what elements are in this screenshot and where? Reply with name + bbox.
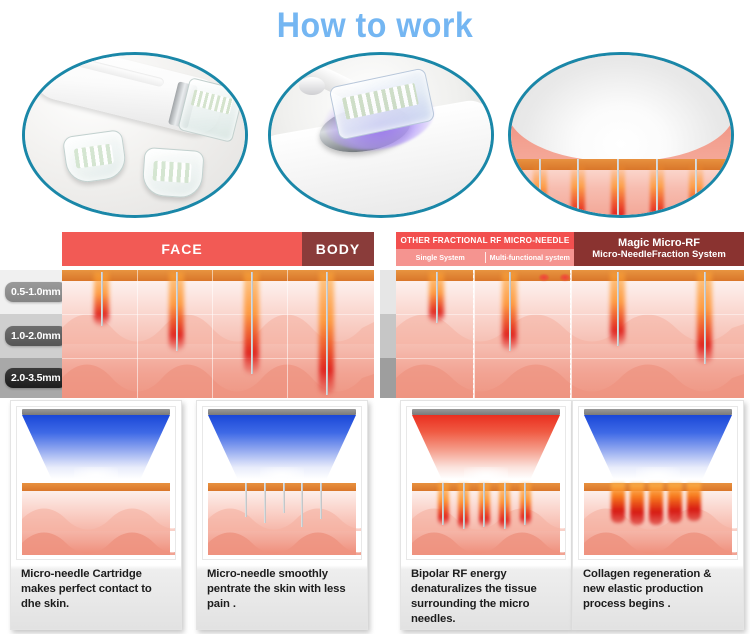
surface-dot-1 [539, 274, 549, 281]
depth-label-3: 2.0-3.5mm [5, 368, 67, 388]
needle [537, 159, 543, 215]
depth-band-mid: 1.0-2.0mm [0, 314, 62, 358]
needle [320, 483, 323, 519]
needle-other-multi [507, 272, 512, 351]
sub-label-multi: Multi-functional system [486, 253, 575, 262]
depth-label-1: 0.5-1.0mm [5, 282, 67, 302]
panel-illustration [202, 406, 362, 560]
cartridge-top-bar [412, 409, 560, 415]
collagen-zone [655, 483, 658, 525]
needle [483, 483, 486, 527]
page-title: How to work [30, 6, 720, 46]
photo-circle-row [0, 52, 750, 217]
chart-face-body: 0.5-1.0mm 1.0-2.0mm 2.0-3.5mm FACE BODY [0, 226, 374, 398]
header-other-fractional-rf: OTHER FRACTIONAL RF MICRO-NEEDLE [396, 232, 574, 249]
comparison-chart-row: 0.5-1.0mm 1.0-2.0mm 2.0-3.5mm FACE BODY [0, 226, 750, 398]
collagen-zone [693, 483, 696, 521]
panel-rf-energy: Bipolar RF energy denaturalizes the tiss… [400, 400, 572, 630]
needle-other-single [434, 272, 439, 323]
magic-title-line2: Micro-NeedleFraction System [592, 250, 726, 261]
needle-magic-1 [615, 272, 620, 346]
depth-band-shallow: 0.5-1.0mm [0, 270, 62, 314]
cartridge-top-bar [22, 409, 170, 415]
needle [693, 159, 699, 215]
skin-cross-section [396, 270, 744, 398]
needle [654, 159, 660, 215]
needle [282, 483, 285, 513]
needle-body-1 [324, 272, 329, 395]
device-knob [299, 77, 325, 95]
magic-title-line1: Magic Micro-RF [618, 237, 700, 250]
panel-caption: Micro-needle smoothly pentrate the skin … [207, 567, 359, 612]
collagen-zone [617, 483, 620, 523]
needle [244, 483, 247, 517]
dermis-wave-lower [22, 529, 176, 555]
photo-circle-skin-penetration [508, 52, 734, 218]
needle [575, 159, 581, 215]
needle-face-3 [249, 272, 254, 374]
dermis-wave-lower [208, 529, 362, 555]
depth-scale-right [380, 270, 396, 398]
collagen-zone [674, 483, 677, 523]
needle [462, 483, 465, 529]
panel-caption: Micro-needle Cartridge makes perfect con… [21, 567, 173, 612]
panel-illustration [578, 406, 738, 560]
panel-illustration [16, 406, 176, 560]
dermis-wave-upper [208, 505, 362, 531]
needle [503, 483, 506, 529]
cartridge-top-bar [208, 409, 356, 415]
panel-caption: Collagen regeneration & new elastic prod… [583, 567, 735, 612]
panel-illustration [406, 406, 566, 560]
epidermis-layer [22, 483, 170, 491]
panel-caption: Bipolar RF energy denaturalizes the tiss… [411, 567, 563, 627]
depth-label-2: 1.0-2.0mm [5, 326, 67, 346]
needle [524, 483, 527, 525]
needle-face-1 [99, 272, 104, 326]
header-magic-micro-rf: Magic Micro-RF Micro-NeedleFraction Syst… [574, 232, 744, 266]
needle [301, 483, 304, 527]
cartridge-head [511, 55, 731, 161]
header-body: BODY [302, 232, 374, 266]
cartridge-top-bar [584, 409, 732, 415]
depth-band-shallow [380, 270, 396, 314]
process-step-panels: Micro-needle Cartridge makes perfect con… [0, 400, 750, 634]
dermis-wave-lower [412, 529, 566, 555]
depth-band-deep: 2.0-3.5mm [0, 358, 62, 398]
dermis-wave-lower [584, 529, 738, 555]
header-face: FACE [62, 232, 302, 266]
chart-other-vs-magic: OTHER FRACTIONAL RF MICRO-NEEDLE Single … [380, 226, 750, 398]
photo-circle-cartridge-macro [268, 52, 494, 218]
sub-label-single: Single System [396, 253, 485, 262]
collagen-zone [636, 483, 639, 525]
how-to-work-infographic: How to work [0, 0, 750, 634]
header-other-subtypes: Single System Multi-functional system [396, 249, 574, 266]
needle [615, 159, 621, 215]
dermis-wave-upper [22, 505, 176, 531]
needle [442, 483, 445, 525]
photo-circle-handpiece [22, 52, 248, 218]
surface-dot-2 [560, 274, 570, 281]
skin-cross-section [62, 270, 374, 398]
needle [263, 483, 266, 523]
panel-collagen: Collagen regeneration & new elastic prod… [572, 400, 744, 630]
depth-scale: 0.5-1.0mm 1.0-2.0mm 2.0-3.5mm [0, 226, 62, 398]
depth-band-deep [380, 358, 396, 398]
panel-contact: Micro-needle Cartridge makes perfect con… [10, 400, 182, 630]
needle-magic-2 [702, 272, 707, 364]
needle-face-2 [174, 272, 179, 351]
cartridge-tip-right [141, 147, 204, 199]
panel-penetration: Micro-needle smoothly pentrate the skin … [196, 400, 368, 630]
depth-band-mid [380, 314, 396, 358]
